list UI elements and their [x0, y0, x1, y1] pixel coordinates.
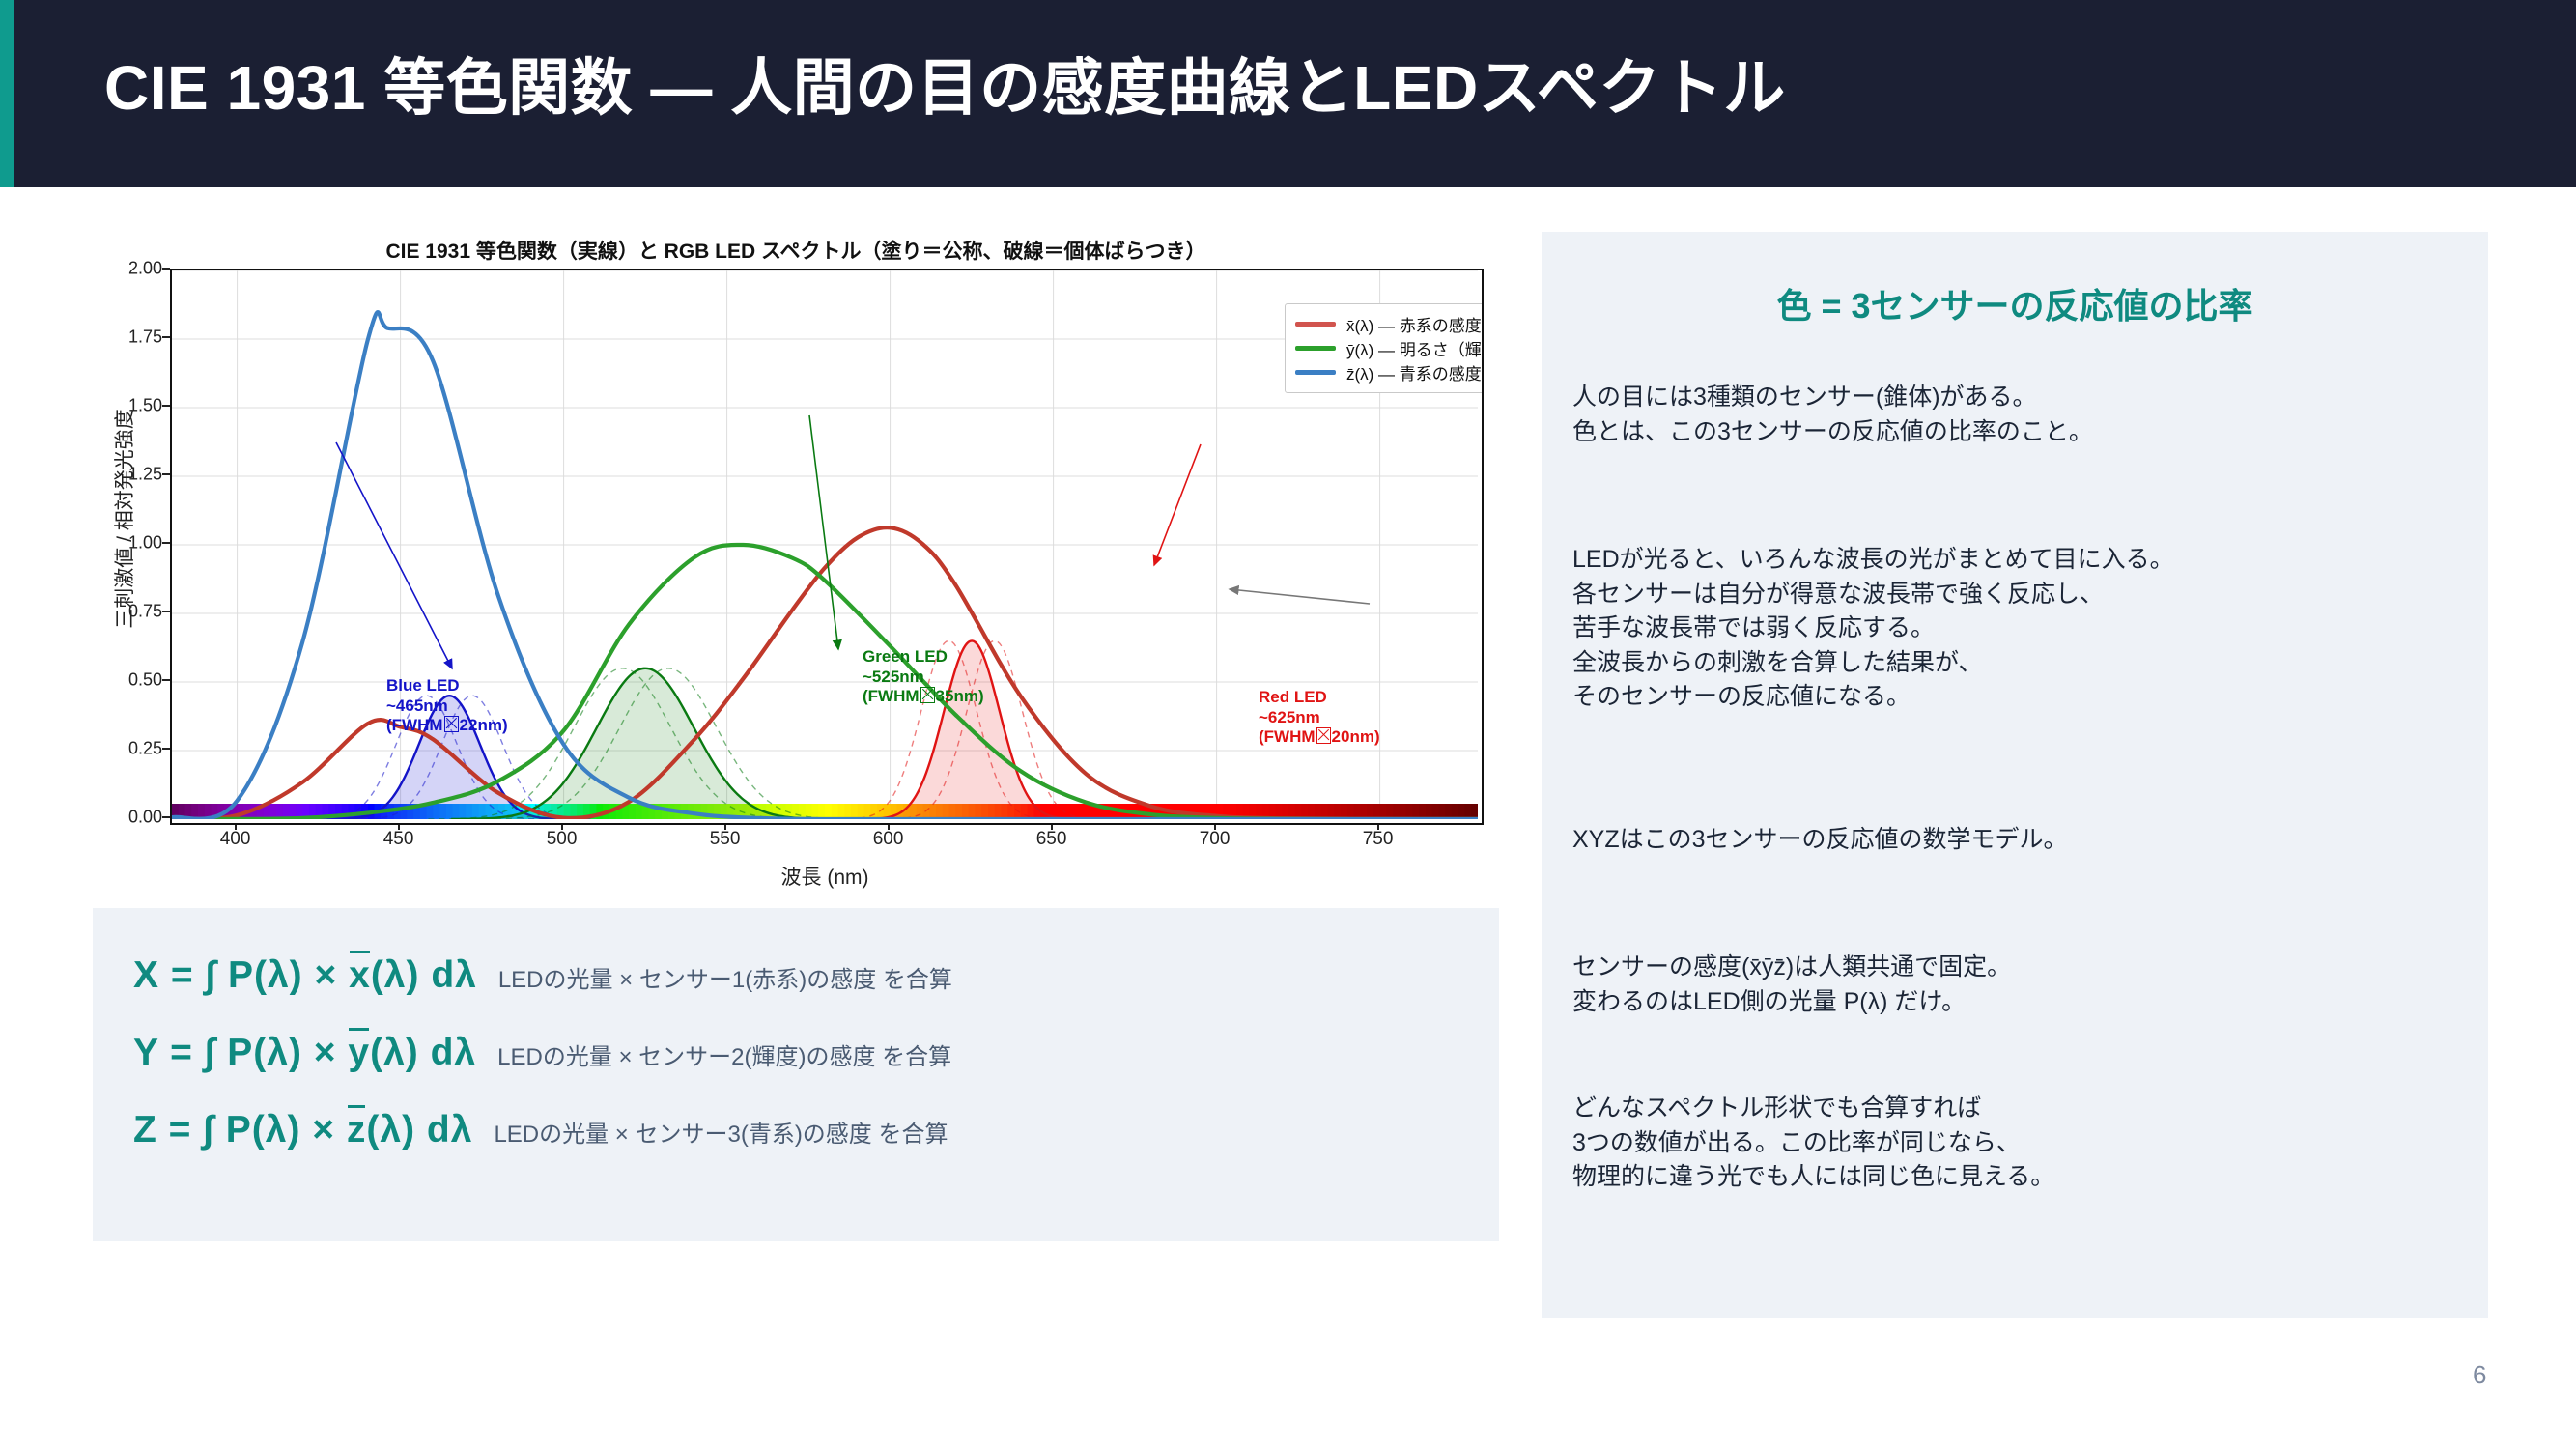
formula-row-y: Y = ∫ P(λ) × y(λ) dλLEDの光量 × センサー2(輝度)の感… — [133, 1032, 951, 1074]
header-accent-bar — [0, 0, 14, 187]
x-tick-label: 450 — [383, 829, 414, 850]
panel-text-line: 色とは、この3センサーの反応値の比率のこと。 — [1572, 415, 2471, 450]
panel-text-line: XYZはこの3センサーの反応値の数学モデル。 — [1572, 823, 2471, 858]
legend-label: x̄(λ) — 赤系の感度 — [1346, 312, 1482, 336]
y-tick-mark — [162, 816, 170, 818]
y-tick-mark — [162, 542, 170, 544]
panel-text-line: LEDが光ると、いろんな波長の光がまとめて目に入る。 — [1572, 543, 2471, 578]
annotation-line: ~525nm — [863, 668, 984, 688]
y-tick-mark — [162, 473, 170, 475]
chart-title: CIE 1931 等色関数（実線）と RGB LED スペクトル（塗り＝公称、破… — [93, 236, 1499, 265]
panel-paragraph-1: 人の目には3種類のセンサー(錐体)がある。色とは、この3センサーの反応値の比率の… — [1572, 381, 2471, 449]
formula-math: Z = ∫ P(λ) × z(λ) dλ — [133, 1109, 472, 1151]
formula-card: X = ∫ P(λ) × x(λ) dλLEDの光量 × センサー1(赤系)の感… — [93, 908, 1499, 1241]
panel-paragraph-5: どんなスペクトル形状でも合算すれば3つの数値が出る。この比率が同じなら、物理的に… — [1572, 1092, 2471, 1195]
x-tick-label: 600 — [873, 829, 904, 850]
legend-label: z̄(λ) — 青系の感度 — [1346, 360, 1482, 384]
annotation-line: ~465nm — [386, 696, 508, 717]
panel-text-line: 苦手な波長帯では弱く反応する。 — [1572, 611, 2471, 646]
y-tick-label: 2.00 — [95, 259, 162, 279]
y-tick-label: 1.50 — [95, 396, 162, 416]
panel-text-line: 変わるのはLED側の光量 P(λ) だけ。 — [1572, 985, 2471, 1020]
legend-swatch — [1295, 370, 1336, 375]
y-tick-mark — [162, 611, 170, 612]
annotation-line: Blue LED — [386, 676, 508, 696]
chart-card: CIE 1931 等色関数（実線）と RGB LED スペクトル（塗り＝公称、破… — [93, 224, 1499, 871]
panel-paragraph-4: センサーの感度(x̄ȳz̄)は人類共通で固定。変わるのはLED側の光量 P(λ)… — [1572, 951, 2471, 1019]
panel-text-line: センサーの感度(x̄ȳz̄)は人類共通で固定。 — [1572, 951, 2471, 985]
formula-math: X = ∫ P(λ) × x(λ) dλ — [133, 954, 477, 997]
chart-legend: x̄(λ) — 赤系の感度ȳ(λ) — 明るさ（輝度Y）z̄(λ) — 青系の感… — [1285, 303, 1484, 393]
annotation-line: Green LED — [863, 647, 984, 668]
formula-description: LEDの光量 × センサー2(輝度)の感度 を合算 — [497, 1037, 951, 1071]
y-tick-label: 0.25 — [95, 739, 162, 759]
legend-swatch — [1295, 322, 1336, 327]
overbar-variable: x — [349, 954, 371, 997]
formula-row-x: X = ∫ P(λ) × x(λ) dλLEDの光量 × センサー1(赤系)の感… — [133, 954, 952, 997]
y-tick-label: 1.25 — [95, 465, 162, 485]
page-number: 6 — [2473, 1360, 2486, 1390]
formula-row-z: Z = ∫ P(λ) × z(λ) dλLEDの光量 × センサー3(青系)の感… — [133, 1109, 948, 1151]
formula-math: Y = ∫ P(λ) × y(λ) dλ — [133, 1032, 476, 1074]
y-tick-mark — [162, 748, 170, 750]
legend-label: ȳ(λ) — 明るさ（輝度Y） — [1346, 336, 1484, 360]
x-axis-label: 波長 (nm) — [170, 862, 1480, 891]
x-tick-label: 500 — [547, 829, 578, 850]
x-tick-label: 650 — [1036, 829, 1067, 850]
formula-description: LEDの光量 × センサー3(青系)の感度 を合算 — [494, 1115, 948, 1149]
legend-item: x̄(λ) — 赤系の感度 — [1295, 312, 1484, 336]
panel-text-line: 3つの数値が出る。この比率が同じなら、 — [1572, 1126, 2471, 1161]
panel-text-line: 人の目には3種類のセンサー(錐体)がある。 — [1572, 381, 2471, 415]
legend-item: z̄(λ) — 青系の感度 — [1295, 360, 1484, 384]
y-tick-label: 0.50 — [95, 670, 162, 691]
panel-text-line: 各センサーは自分が得意な波長帯で強く反応し、 — [1572, 578, 2471, 612]
panel-heading: 色 = 3センサーの反応値の比率 — [1542, 278, 2488, 328]
annotation-line: ~625nm — [1259, 708, 1380, 728]
panel-paragraph-2: LEDが光ると、いろんな波長の光がまとめて目に入る。各センサーは自分が得意な波長… — [1572, 543, 2471, 715]
y-tick-mark — [162, 336, 170, 338]
y-tick-label: 0.75 — [95, 602, 162, 622]
explanation-panel: 色 = 3センサーの反応値の比率 人の目には3種類のセンサー(錐体)がある。色と… — [1542, 232, 2488, 1318]
formula-description: LEDの光量 × センサー1(赤系)の感度 を合算 — [498, 960, 952, 994]
annotation-line: (FWHM22nm) — [386, 716, 508, 736]
overbar-variable: z — [347, 1109, 367, 1151]
missing-glyph-icon — [920, 687, 935, 703]
panel-text-line: そのセンサーの反応値になる。 — [1572, 680, 2471, 715]
panel-text-line: 物理的に違う光でも人には同じ色に見える。 — [1572, 1160, 2471, 1195]
annotation-green-led: Green LED~525nm(FWHM35nm) — [863, 647, 984, 707]
slide-header: CIE 1931 等色関数 — 人間の目の感度曲線とLEDスペクトル — [0, 0, 2576, 187]
panel-text-line: どんなスペクトル形状でも合算すれば — [1572, 1092, 2471, 1126]
legend-swatch — [1295, 346, 1336, 351]
legend-item: ȳ(λ) — 明るさ（輝度Y） — [1295, 336, 1484, 360]
y-tick-label: 0.00 — [95, 808, 162, 828]
x-tick-label: 400 — [220, 829, 251, 850]
annotation-blue-led: Blue LED~465nm(FWHM22nm) — [386, 676, 508, 736]
panel-text-line: 全波長からの刺激を合算した結果が、 — [1572, 646, 2471, 681]
annotation-line: (FWHM35nm) — [863, 687, 984, 707]
x-tick-label: 750 — [1363, 829, 1394, 850]
y-tick-label: 1.00 — [95, 533, 162, 554]
missing-glyph-icon — [1316, 727, 1331, 744]
panel-paragraph-3: XYZはこの3センサーの反応値の数学モデル。 — [1572, 823, 2471, 858]
x-tick-label: 700 — [1200, 829, 1231, 850]
plot-area: Blue LED~465nm(FWHM22nm) Green LED~525nm… — [170, 269, 1484, 825]
annotation-red-led: Red LED~625nm(FWHM20nm) — [1259, 688, 1380, 748]
y-tick-mark — [162, 268, 170, 270]
overbar-variable: y — [348, 1032, 370, 1074]
page-title: CIE 1931 等色関数 — 人間の目の感度曲線とLEDスペクトル — [104, 39, 1786, 128]
y-tick-mark — [162, 405, 170, 407]
x-tick-label: 550 — [710, 829, 741, 850]
annotation-line: (FWHM20nm) — [1259, 727, 1380, 748]
y-tick-label: 1.75 — [95, 327, 162, 348]
y-tick-mark — [162, 679, 170, 681]
missing-glyph-icon — [444, 716, 459, 732]
annotation-line: Red LED — [1259, 688, 1380, 708]
